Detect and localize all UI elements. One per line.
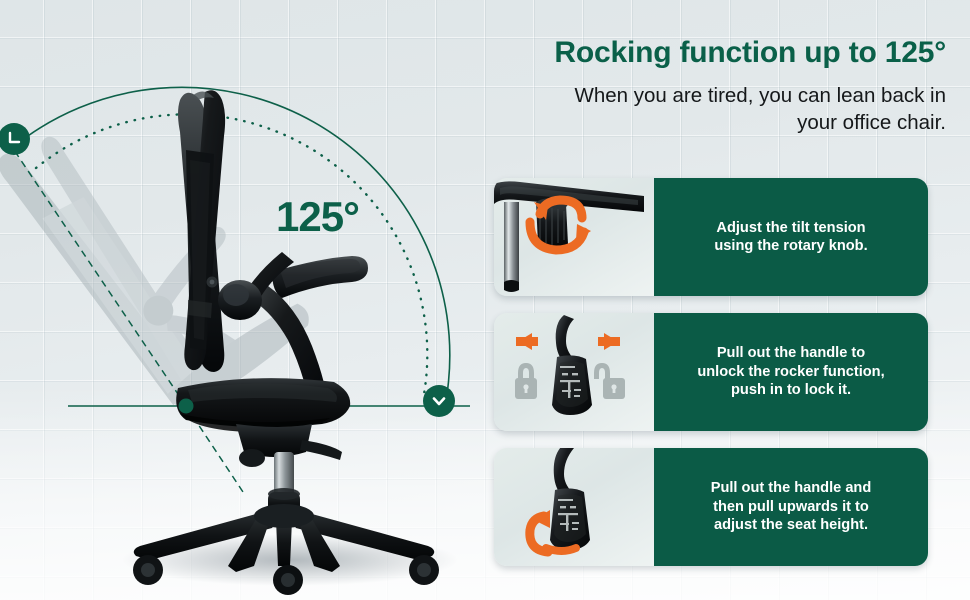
page-title: Rocking function up to 125° [372, 36, 946, 71]
chevron-down-icon [430, 392, 448, 410]
feature-card-tilt-tension: Adjust the tilt tension using the rotary… [494, 178, 928, 296]
feature-card-rocker-lock: Pull out the handle to unlock the rocker… [494, 313, 928, 431]
lock-unlock-handle-icon [494, 313, 654, 431]
card2-line-3: push in to lock it. [731, 382, 851, 398]
angle-value-label: 125° [276, 196, 359, 238]
lock-open-icon [594, 363, 625, 399]
lock-closed-icon [515, 363, 537, 399]
chevron-up-left-icon [5, 130, 23, 148]
page-subtitle: When you are tired, you can lean back in… [372, 82, 946, 137]
card3-line-2: then pull upwards it to [713, 499, 869, 515]
rotary-knob-icon [494, 178, 654, 296]
recline-min-badge [423, 385, 455, 417]
feature-card-list: Adjust the tilt tension using the rotary… [494, 178, 928, 566]
card-photo-seat-height [494, 448, 654, 566]
card1-line-2: using the rotary knob. [714, 238, 867, 254]
card-photo-rocker-lock [494, 313, 654, 431]
card2-line-2: unlock the rocker function, [697, 364, 884, 380]
pull-up-arrow-tail [546, 548, 576, 551]
card3-line-3: adjust the seat height. [714, 517, 868, 533]
subtitle-line-2: your office chair. [797, 111, 946, 134]
lumbar-support [188, 300, 212, 318]
card3-line-1: Pull out the handle and [711, 480, 872, 496]
arrow-right-icon [598, 333, 620, 350]
card-text-seat-height: Pull out the handle and then pull upward… [654, 448, 928, 566]
height-adjust-lever [300, 440, 342, 460]
infographic-canvas: 125° Rocking function up to 125° When yo… [0, 0, 970, 600]
subtitle-line-1: When you are tired, you can lean back in [575, 84, 947, 107]
base-hub [254, 504, 314, 528]
armrest-pivot-cap [223, 284, 249, 306]
seat-height-handle-icon [494, 448, 654, 566]
recline-pivot-point [179, 399, 194, 414]
header-block: Rocking function up to 125° When you are… [372, 36, 946, 136]
card1-line-1: Adjust the tilt tension [716, 220, 865, 236]
arrow-left-icon [516, 333, 538, 350]
card-text-rocker-lock: Pull out the handle to unlock the rocker… [654, 313, 928, 431]
card-photo-tilt-tension [494, 178, 654, 296]
card-text-tilt-tension: Adjust the tilt tension using the rotary… [654, 178, 928, 296]
chrome-post [504, 202, 519, 288]
feature-card-seat-height: Pull out the handle and then pull upward… [494, 448, 928, 566]
reclined-chair-ghost [0, 64, 317, 424]
card2-line-1: Pull out the handle to [717, 345, 865, 361]
tilt-tension-knob [239, 449, 265, 467]
